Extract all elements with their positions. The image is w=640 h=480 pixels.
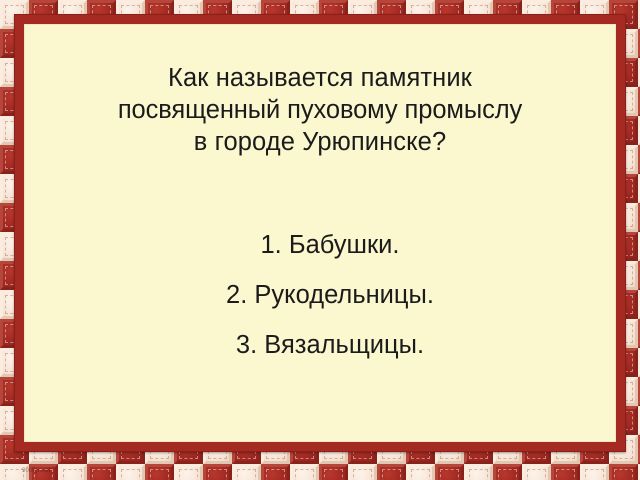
border-tile	[522, 464, 551, 480]
border-tile	[609, 464, 638, 480]
answer-list: 1. Бабушки. 2. Рукодельницы. 3. Вязальщи…	[75, 220, 585, 370]
inner-frame: Как называется памятник посвященный пухо…	[14, 14, 626, 452]
answer-option-1[interactable]: 1. Бабушки.	[75, 220, 585, 270]
border-tile	[203, 464, 232, 480]
answer-option-3[interactable]: 3. Вязальщицы.	[75, 320, 585, 370]
slide: Как называется памятник посвященный пухо…	[0, 0, 640, 480]
border-tile	[580, 464, 609, 480]
border-tile	[58, 464, 87, 480]
border-tile	[493, 464, 522, 480]
border-tile	[145, 464, 174, 480]
border-tile	[0, 464, 29, 480]
border-tile	[406, 464, 435, 480]
border-tile	[261, 464, 290, 480]
border-tile	[464, 464, 493, 480]
border-tile	[174, 464, 203, 480]
border-tile	[87, 464, 116, 480]
border-tile	[232, 464, 261, 480]
border-tile	[319, 464, 348, 480]
question-text: Как называется памятник посвященный пухо…	[55, 62, 585, 158]
content-panel: Как называется памятник посвященный пухо…	[25, 25, 615, 441]
question-line-3: в городе Урюпинске?	[55, 126, 585, 158]
border-tile	[435, 464, 464, 480]
inner-frame-bevel: Как называется памятник посвященный пухо…	[24, 24, 616, 442]
border-tile	[29, 464, 58, 480]
border-tile	[290, 464, 319, 480]
border-tile	[551, 464, 580, 480]
border-tile	[116, 464, 145, 480]
question-line-2: посвященный пуховому промыслу	[55, 94, 585, 126]
answer-option-2[interactable]: 2. Рукодельницы.	[75, 270, 585, 320]
question-line-1: Как называется памятник	[55, 62, 585, 94]
border-tile	[377, 464, 406, 480]
border-tile	[348, 464, 377, 480]
